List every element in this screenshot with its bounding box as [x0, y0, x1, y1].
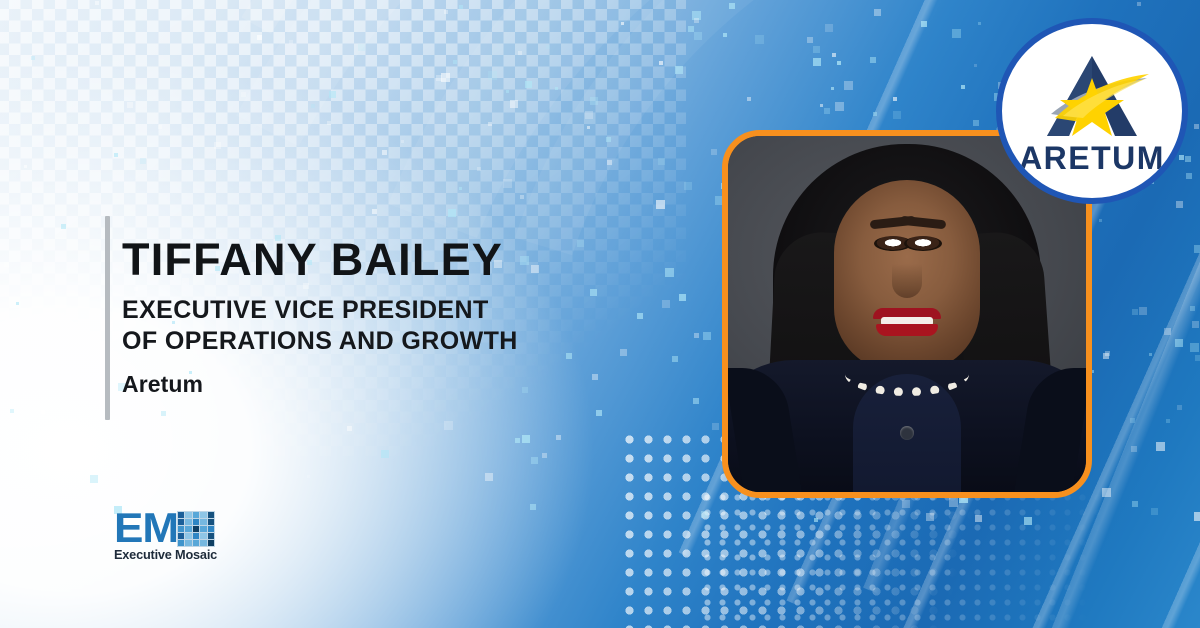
background-square [372, 209, 377, 214]
background-square [729, 3, 735, 9]
background-square [459, 5, 463, 9]
background-square [1175, 339, 1183, 347]
background-square [1099, 219, 1102, 222]
background-square [926, 513, 934, 521]
mosaic-cell [200, 519, 206, 525]
background-square [656, 200, 665, 209]
background-square [4, 262, 9, 267]
background-square [237, 429, 242, 434]
mosaic-cell [178, 526, 184, 532]
background-square [1131, 446, 1137, 452]
background-square [241, 92, 246, 97]
background-square [587, 126, 590, 129]
portrait-image [728, 136, 1086, 492]
mosaic-cell [208, 540, 214, 546]
background-square [1149, 353, 1152, 356]
background-square [555, 87, 558, 90]
text-accent-bar [105, 216, 110, 420]
background-square [520, 195, 524, 199]
background-square [459, 187, 462, 190]
mosaic-cell [200, 526, 206, 532]
background-square [1151, 508, 1158, 515]
job-title-line-1: EXECUTIVE VICE PRESIDENT [122, 295, 722, 326]
em-letters: EM [114, 511, 178, 545]
background-square [1105, 351, 1110, 356]
background-square [503, 179, 512, 188]
background-square [90, 475, 98, 483]
background-square [607, 160, 612, 165]
mosaic-tile-icon [177, 511, 215, 547]
background-square [1139, 307, 1147, 315]
background-square [518, 51, 522, 55]
background-square [41, 410, 45, 414]
background-square [444, 421, 453, 430]
background-square [1024, 517, 1032, 525]
mosaic-cell [178, 533, 184, 539]
aretum-a-star-logo-icon [1033, 52, 1151, 140]
background-square [813, 58, 821, 66]
background-square [621, 22, 624, 25]
background-square [747, 97, 751, 101]
background-square [596, 410, 602, 416]
background-square [401, 140, 404, 143]
background-square [824, 108, 830, 114]
background-square [844, 81, 853, 90]
mosaic-cell [178, 540, 184, 546]
background-square [531, 457, 538, 464]
background-square [1130, 418, 1135, 423]
background-square [658, 158, 665, 165]
background-square [712, 423, 719, 430]
background-square [542, 453, 547, 458]
background-square [61, 224, 66, 229]
mosaic-cell [193, 519, 199, 525]
background-square [659, 61, 663, 65]
background-square [1132, 501, 1138, 507]
background-square [329, 91, 336, 98]
background-square [961, 85, 965, 89]
background-square [158, 125, 162, 129]
background-square [556, 435, 561, 440]
mosaic-cell [185, 512, 191, 518]
background-square [1166, 419, 1170, 423]
background-square [835, 102, 844, 111]
aretum-logo: ARETUM [996, 18, 1188, 204]
background-square [10, 409, 14, 413]
background-square [1190, 306, 1195, 311]
background-square [893, 97, 897, 101]
background-square [693, 398, 699, 404]
background-square [114, 153, 118, 157]
background-square [382, 150, 387, 155]
background-square [831, 87, 834, 90]
background-square [873, 112, 877, 116]
background-square [488, 71, 497, 80]
background-square [31, 56, 35, 60]
background-square [606, 137, 611, 142]
background-square [448, 209, 456, 217]
portrait-lower-lip [876, 324, 938, 336]
background-square [1102, 488, 1111, 497]
mosaic-cell [208, 533, 214, 539]
background-square [755, 35, 764, 44]
background-square [585, 111, 593, 119]
background-square [902, 500, 910, 508]
portrait-button [900, 426, 914, 440]
mosaic-cell [185, 533, 191, 539]
background-square [1164, 328, 1171, 335]
background-square [893, 111, 901, 119]
background-square [723, 33, 727, 37]
background-square [711, 149, 717, 155]
background-square [24, 165, 27, 168]
background-square [546, 45, 550, 49]
mosaic-cell [193, 512, 199, 518]
aretum-wordmark: ARETUM [1019, 142, 1165, 174]
background-square [975, 515, 982, 522]
background-square [515, 438, 520, 443]
background-square [127, 102, 133, 108]
background-square [837, 61, 841, 65]
background-square [973, 120, 979, 126]
background-square [530, 504, 536, 510]
mosaic-cell [178, 512, 184, 518]
background-square [684, 182, 692, 190]
portrait-pearl-necklace [845, 353, 969, 396]
background-square [825, 24, 833, 32]
background-square [1137, 2, 1141, 6]
background-square [140, 158, 146, 164]
background-square [477, 167, 481, 171]
background-square [1194, 245, 1200, 253]
background-square [952, 29, 961, 38]
background-square [1179, 155, 1184, 160]
background-square [949, 498, 958, 507]
mosaic-cell [208, 512, 214, 518]
background-square [214, 142, 221, 149]
background-square [1156, 442, 1165, 451]
executive-mosaic-name: Executive Mosaic [114, 548, 220, 562]
background-square [1195, 355, 1200, 361]
job-title-line-2: OF OPERATIONS AND GROWTH [122, 326, 722, 357]
background-square [506, 90, 509, 93]
background-square [441, 73, 450, 82]
background-square [814, 518, 818, 522]
background-square [347, 426, 352, 431]
background-square [1190, 343, 1199, 352]
background-square [1186, 173, 1192, 179]
background-square [1194, 512, 1200, 521]
mosaic-cell [193, 533, 199, 539]
mosaic-cell [208, 519, 214, 525]
background-square [807, 37, 813, 43]
background-square [289, 40, 293, 44]
background-square [358, 44, 365, 51]
background-square [453, 60, 457, 64]
background-square [510, 100, 518, 108]
person-organization: Aretum [122, 371, 722, 398]
page-title: TIFFANY BAILEY [122, 236, 722, 283]
mosaic-cell [193, 526, 199, 532]
background-square [832, 53, 836, 57]
mosaic-cell [200, 533, 206, 539]
background-square [874, 9, 881, 16]
mosaic-cell [200, 540, 206, 546]
background-square [694, 18, 699, 23]
person-info-block: TIFFANY BAILEY EXECUTIVE VICE PRESIDENT … [122, 236, 722, 398]
background-square [1177, 405, 1182, 410]
mosaic-cell [208, 526, 214, 532]
background-square [444, 10, 448, 14]
background-square [95, 1, 99, 5]
background-square [161, 411, 166, 416]
executive-announcement-banner: TIFFANY BAILEY EXECUTIVE VICE PRESIDENT … [0, 0, 1200, 628]
background-square [1132, 309, 1138, 315]
background-square [522, 435, 530, 443]
background-square [701, 511, 708, 518]
mosaic-cell [193, 540, 199, 546]
executive-mosaic-logo: EM Executive Mosaic [114, 511, 218, 562]
background-square [978, 22, 981, 25]
em-logo-row: EM [114, 511, 218, 547]
background-square [311, 104, 315, 108]
background-square [485, 473, 493, 481]
background-square [820, 104, 823, 107]
background-square [488, 122, 492, 126]
background-square [1176, 201, 1183, 208]
mosaic-cell [185, 540, 191, 546]
background-square [307, 475, 310, 478]
background-square [436, 75, 442, 81]
background-square [974, 64, 977, 67]
portrait-eye-right [904, 236, 942, 251]
mosaic-cell [200, 512, 206, 518]
background-square [1192, 321, 1199, 328]
mosaic-cell [178, 519, 184, 525]
background-square [694, 32, 702, 40]
background-square [1185, 156, 1191, 162]
portrait-lips [873, 308, 941, 334]
portrait-nose [892, 264, 922, 298]
mosaic-cell [185, 519, 191, 525]
background-square [16, 302, 19, 305]
background-square [525, 81, 532, 88]
background-square [327, 121, 331, 125]
background-square [813, 46, 820, 53]
background-square [590, 97, 598, 105]
person-job-title: EXECUTIVE VICE PRESIDENT OF OPERATIONS A… [122, 295, 722, 357]
background-square [1194, 124, 1199, 129]
background-square [870, 57, 876, 63]
background-square [381, 450, 389, 458]
background-square [257, 35, 262, 40]
background-square [675, 66, 683, 74]
background-square [921, 21, 927, 27]
mosaic-cell [185, 526, 191, 532]
